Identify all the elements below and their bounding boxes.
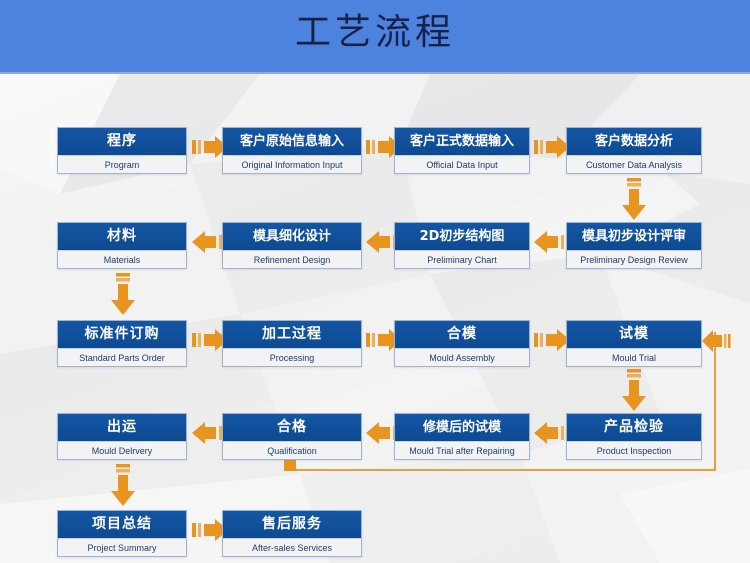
node-materials[interactable]: 材料 Materials xyxy=(57,222,187,269)
node-title-cn: 客户数据分析 xyxy=(567,128,701,155)
node-preliminary-design-review[interactable]: 模具初步设计评审 Preliminary Design Review xyxy=(566,222,702,269)
node-title-en: Processing xyxy=(223,348,361,366)
node-title-en: Preliminary Chart xyxy=(395,250,529,268)
node-title-en: Mould Trial xyxy=(567,348,701,366)
page-header-banner: 工艺流程 xyxy=(0,0,750,74)
node-title-cn: 模具细化设计 xyxy=(223,223,361,250)
node-title-cn: 标准件订购 xyxy=(58,321,186,348)
left-arrow-r4-3 xyxy=(534,422,570,444)
node-title-en: Standard Parts Order xyxy=(58,348,186,366)
node-title-en: Qualification xyxy=(223,441,361,459)
node-title-en: Project Summary xyxy=(58,538,186,556)
node-title-cn: 产品检验 xyxy=(567,414,701,441)
node-after-sales-services[interactable]: 售后服务 After-sales Services xyxy=(222,510,362,557)
node-program[interactable]: 程序 Program xyxy=(57,127,187,174)
node-standard-parts-order[interactable]: 标准件订购 Standard Parts Order xyxy=(57,320,187,367)
node-title-en: Product Inspection xyxy=(567,441,701,459)
right-arrow-r1-3 xyxy=(534,136,570,158)
node-mould-assembly[interactable]: 合模 Mould Assembly xyxy=(394,320,530,367)
node-project-summary[interactable]: 项目总结 Project Summary xyxy=(57,510,187,557)
node-title-cn: 合格 xyxy=(223,414,361,441)
node-title-en: Refinement Design xyxy=(223,250,361,268)
node-title-cn: 试模 xyxy=(567,321,701,348)
node-title-en: Program xyxy=(58,155,186,173)
node-title-cn: 模具初步设计评审 xyxy=(567,223,701,250)
process-flow-page: 工艺流程 程序 Program xyxy=(0,0,750,563)
node-mould-delivery[interactable]: 出运 Mould Delrvery xyxy=(57,413,187,460)
node-product-inspection[interactable]: 产品检验 Product Inspection xyxy=(566,413,702,460)
node-customer-data-analysis[interactable]: 客户数据分析 Customer Data Analysis xyxy=(566,127,702,174)
node-title-cn: 加工过程 xyxy=(223,321,361,348)
feedback-loop-vertical-line xyxy=(714,332,716,471)
node-title-en: Materials xyxy=(58,250,186,268)
node-title-cn: 合模 xyxy=(395,321,529,348)
node-title-cn: 修模后的试模 xyxy=(395,414,529,441)
node-title-en: Mould Trial after Repairing xyxy=(395,441,529,459)
node-title-en: Preliminary Design Review xyxy=(567,250,701,268)
right-arrow-r3-3 xyxy=(534,329,570,351)
down-arrow-row2-to-row3 xyxy=(108,273,138,317)
node-title-cn: 客户原始信息输入 xyxy=(223,128,361,155)
node-title-cn: 程序 xyxy=(58,128,186,155)
node-title-en: Mould Delrvery xyxy=(58,441,186,459)
node-refinement-design[interactable]: 模具细化设计 Refinement Design xyxy=(222,222,362,269)
node-qualification[interactable]: 合格 Qualification xyxy=(222,413,362,460)
left-arrow-r2-3 xyxy=(534,231,570,253)
node-title-cn: 材料 xyxy=(58,223,186,250)
down-arrow-row3-to-row4 xyxy=(619,369,649,413)
node-preliminary-chart[interactable]: 2D初步结构图 Preliminary Chart xyxy=(394,222,530,269)
node-title-en: Mould Assembly xyxy=(395,348,529,366)
down-arrow-row4-to-row5 xyxy=(108,464,138,508)
node-title-cn: 售后服务 xyxy=(223,511,361,538)
node-title-cn: 客户正式数据输入 xyxy=(395,128,529,155)
feedback-loop-horizontal-line xyxy=(293,469,716,471)
flowchart-canvas: 程序 Program 客户原始信息输入 Original Information… xyxy=(0,74,750,563)
page-title: 工艺流程 xyxy=(0,8,750,58)
node-official-data-input[interactable]: 客户正式数据输入 Official Data Input xyxy=(394,127,530,174)
node-title-en: Original Information Input xyxy=(223,155,361,173)
down-arrow-row1-to-row2 xyxy=(619,178,649,222)
feedback-loop-arrow-into-mould-trial xyxy=(702,330,732,352)
node-mould-trial-after-repairing[interactable]: 修模后的试模 Mould Trial after Repairing xyxy=(394,413,530,460)
node-title-cn: 出运 xyxy=(58,414,186,441)
node-title-cn: 2D初步结构图 xyxy=(395,223,529,250)
node-original-information-input[interactable]: 客户原始信息输入 Original Information Input xyxy=(222,127,362,174)
node-title-en: After-sales Services xyxy=(223,538,361,556)
node-processing[interactable]: 加工过程 Processing xyxy=(222,320,362,367)
node-title-en: Customer Data Analysis xyxy=(567,155,701,173)
node-mould-trial[interactable]: 试模 Mould Trial xyxy=(566,320,702,367)
node-title-en: Official Data Input xyxy=(395,155,529,173)
node-title-cn: 项目总结 xyxy=(58,511,186,538)
